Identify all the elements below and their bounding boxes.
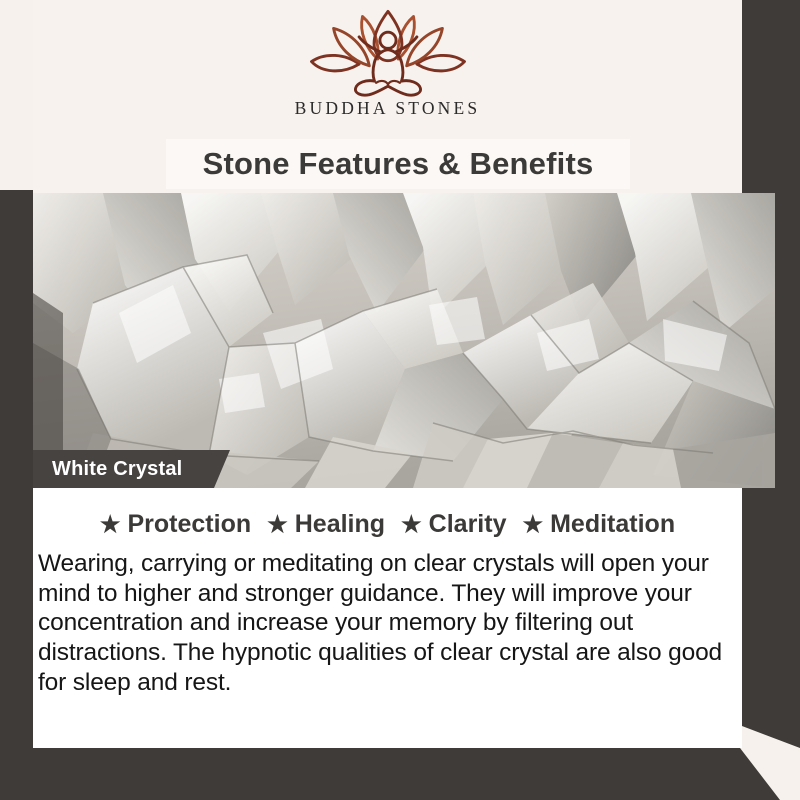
page-title-banner: Stone Features & Benefits — [166, 139, 630, 189]
poster-root: BUDDHA STONES Stone Features & Benefits — [0, 0, 800, 800]
benefits-row: ★ Protection ★ Healing ★ Clarity ★ Medit… — [33, 488, 742, 539]
star-icon: ★ — [522, 513, 543, 536]
stone-name-text: White Crystal — [33, 458, 182, 481]
crystal-cluster-image — [33, 193, 775, 488]
brand-logo: BUDDHA STONES — [33, 8, 742, 136]
lotus-meditation-icon — [303, 8, 473, 100]
brand-name: BUDDHA STONES — [295, 98, 481, 119]
benefit-item: ★ Meditation — [522, 510, 675, 539]
star-icon: ★ — [267, 513, 288, 536]
description-text: Wearing, carrying or meditating on clear… — [38, 549, 737, 697]
stone-photo — [33, 193, 775, 488]
frame-band-left — [0, 190, 33, 776]
benefit-item: ★ Clarity — [401, 510, 522, 539]
benefit-label: Protection — [128, 510, 252, 539]
frame-corner-bottom-left — [0, 748, 780, 800]
page-title: Stone Features & Benefits — [203, 146, 594, 182]
benefit-label: Meditation — [550, 510, 675, 539]
benefit-item: ★ Protection — [100, 510, 267, 539]
content-panel: ★ Protection ★ Healing ★ Clarity ★ Medit… — [33, 488, 742, 748]
stone-name-badge: White Crystal — [33, 450, 230, 488]
benefit-label: Healing — [295, 510, 385, 539]
benefit-label: Clarity — [429, 510, 507, 539]
star-icon: ★ — [401, 513, 422, 536]
benefit-item: ★ Healing — [267, 510, 401, 539]
star-icon: ★ — [100, 513, 121, 536]
